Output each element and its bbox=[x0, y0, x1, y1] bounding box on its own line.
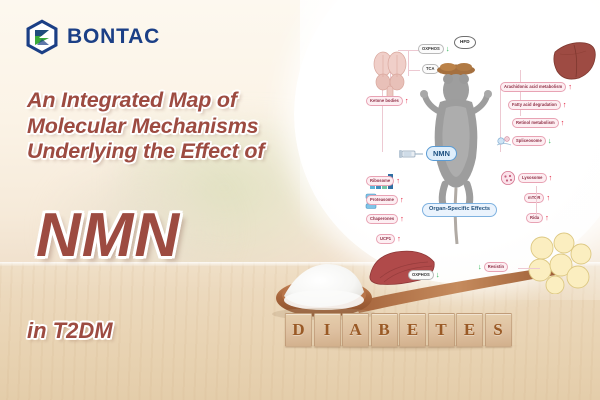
pathway-spliceosome[interactable]: Spliceosome ↓ bbox=[512, 136, 552, 146]
arrow-up-icon: ↑ bbox=[549, 174, 553, 182]
connector-line bbox=[536, 186, 537, 216]
headline-line-3: Underlying the Effect of bbox=[27, 139, 357, 165]
headline-subtitle: in T2DM bbox=[27, 318, 113, 344]
headline-line-1: An Integrated Map of bbox=[27, 88, 357, 114]
pathway-rida[interactable]: Rida ↑ bbox=[526, 213, 549, 223]
pathway-fatty-acid-degradation[interactable]: Fatty acid degradation ↑ bbox=[508, 100, 567, 110]
arrow-up-icon: ↑ bbox=[396, 177, 400, 185]
brand-logo[interactable]: BONTAC bbox=[24, 18, 160, 56]
letter-block: A bbox=[342, 313, 369, 347]
pathway-arachidonic-acid-metabolism[interactable]: Arachidonic acid metabolism ↑ bbox=[500, 82, 572, 92]
pathway-retinol-metabolism[interactable]: Retinol metabolism ↑ bbox=[512, 118, 564, 128]
pathway-proteasome[interactable]: Proteasome ↑ bbox=[366, 195, 404, 205]
treatment-bubble-nmn[interactable]: NMN bbox=[426, 146, 457, 161]
letter-block: I bbox=[314, 313, 341, 347]
molecular-mechanism-diagram: OXPHOS ↓ TCA ↓ Ketone bodies ↑ HFD bbox=[360, 18, 600, 293]
pathway-mtor[interactable]: mTOR ↑ bbox=[524, 193, 550, 203]
pathway-ucp1[interactable]: UCP1 ↑ bbox=[376, 234, 401, 244]
pathway-chaperones[interactable]: Chaperones ↑ bbox=[366, 214, 404, 224]
connector-line bbox=[408, 50, 409, 76]
arrow-up-icon: ↑ bbox=[400, 196, 404, 204]
arrow-down-icon: ↓ bbox=[478, 263, 482, 271]
arrow-up-icon: ↑ bbox=[400, 215, 404, 223]
arrow-up-icon: ↑ bbox=[546, 194, 550, 202]
letter-block: E bbox=[456, 313, 483, 347]
brand-name: BONTAC bbox=[67, 25, 160, 49]
arrow-up-icon: ↑ bbox=[563, 101, 567, 109]
connector-line bbox=[408, 70, 420, 71]
pathway-ribosome[interactable]: Ribosome ↑ bbox=[366, 176, 400, 186]
lysosome-icon bbox=[500, 170, 516, 191]
arrow-up-icon: ↑ bbox=[545, 214, 549, 222]
connector-line bbox=[518, 268, 540, 269]
letter-block: B bbox=[371, 313, 398, 347]
arrow-down-icon: ↓ bbox=[548, 137, 552, 145]
page-title: An Integrated Map of Molecular Mechanism… bbox=[27, 88, 357, 165]
arrow-up-icon: ↑ bbox=[568, 83, 572, 91]
organ-specific-effects-bubble[interactable]: Organ-Specific Effects bbox=[422, 203, 497, 217]
liver-icon bbox=[552, 40, 598, 87]
pathway-ketone-bodies[interactable]: Ketone bodies ↑ bbox=[366, 96, 409, 106]
letter-block: E bbox=[399, 313, 426, 347]
spliceosome-icon bbox=[496, 134, 512, 153]
headline-line-2: Molecular Mechanisms bbox=[27, 114, 357, 140]
letter-block: T bbox=[428, 313, 455, 347]
arrow-down-icon: ↓ bbox=[436, 271, 440, 279]
letter-block: S bbox=[485, 313, 512, 347]
arrow-up-icon: ↑ bbox=[561, 119, 565, 127]
bontac-hexagon-leaf-logo bbox=[24, 18, 60, 56]
pathway-lysosome[interactable]: Lysosome ↑ bbox=[518, 173, 552, 183]
arrow-up-icon: ↑ bbox=[397, 235, 401, 243]
letter-block: D bbox=[285, 313, 312, 347]
poster-canvas: BONTAC An Integrated Map of Molecular Me… bbox=[0, 0, 600, 400]
syringe-icon bbox=[398, 145, 424, 168]
diabetes-letter-blocks: D I A B E T E S bbox=[285, 313, 512, 347]
arrow-up-icon: ↑ bbox=[405, 97, 409, 105]
headline-emphasis-nmn: NMN bbox=[36, 205, 180, 267]
pathway-resistin[interactable]: ↓ Resistin bbox=[478, 262, 508, 272]
adipose-tissue-icon bbox=[528, 232, 592, 299]
pathway-oxphos-muscle[interactable]: OXPHOS ↓ bbox=[408, 270, 440, 280]
